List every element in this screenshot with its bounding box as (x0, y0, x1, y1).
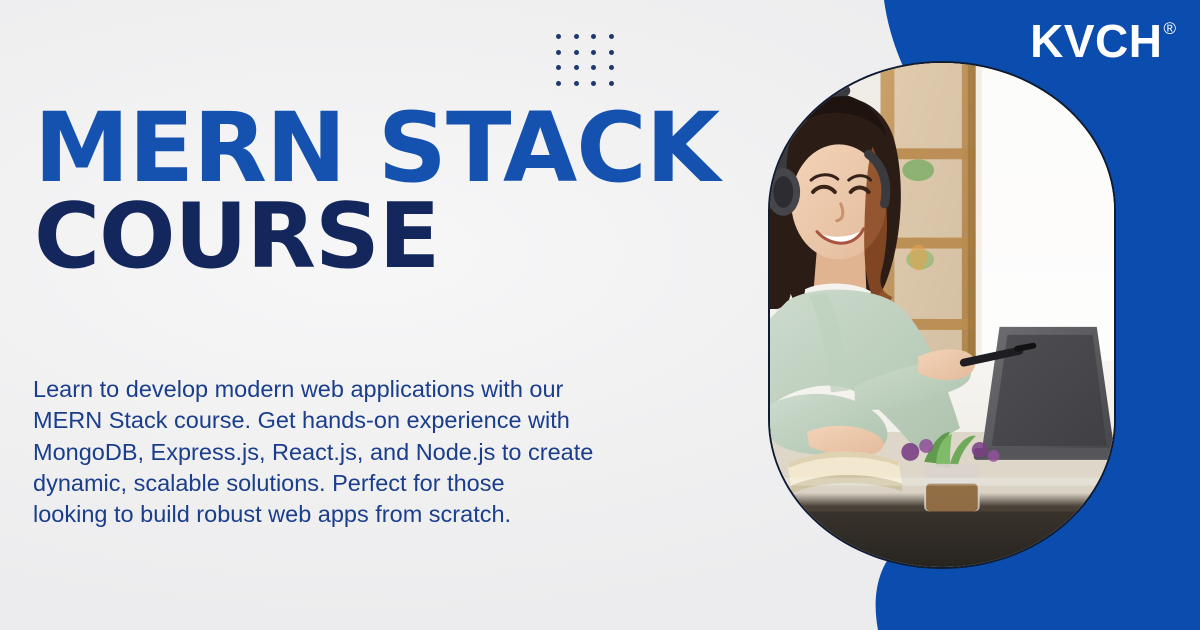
dot-icon (574, 65, 579, 70)
body-copy-line: Learn to develop modern web applications… (33, 374, 723, 405)
dot-icon (591, 50, 596, 55)
dot-icon (609, 65, 614, 70)
headline-primary: MERN STACK (34, 104, 794, 192)
dot-grid-decoration (556, 34, 626, 96)
dot-icon (556, 50, 561, 55)
kvch-logo: KVCH ® (1030, 18, 1176, 64)
dot-cell (609, 50, 627, 66)
dot-icon (574, 34, 579, 39)
dot-cell (591, 34, 609, 50)
student-photo (768, 61, 1116, 569)
headline-block: MERN STACK COURSE (34, 104, 794, 279)
photo-illustration (770, 63, 1114, 567)
dot-cell (609, 65, 627, 81)
dot-cell (556, 50, 574, 66)
body-copy-line: looking to build robust web apps from sc… (33, 499, 723, 530)
dot-cell (574, 50, 592, 66)
promo-banner: MERN STACK COURSE Learn to develop moder… (0, 0, 1200, 630)
dot-icon (591, 34, 596, 39)
dot-cell (556, 34, 574, 50)
dot-cell (609, 34, 627, 50)
registered-trademark-icon: ® (1163, 20, 1176, 37)
dot-icon (609, 34, 614, 39)
dot-icon (556, 65, 561, 70)
body-copy: Learn to develop modern web applications… (33, 374, 723, 530)
body-copy-line: MongoDB, Express.js, React.js, and Node.… (33, 437, 723, 468)
dot-icon (591, 65, 596, 70)
dot-icon (609, 81, 614, 86)
dot-cell (574, 65, 592, 81)
dot-icon (591, 81, 596, 86)
logo-wordmark: KVCH (1030, 18, 1162, 64)
dot-cell (591, 65, 609, 81)
dot-cell (556, 65, 574, 81)
dot-cell (591, 50, 609, 66)
dot-icon (609, 50, 614, 55)
dot-cell (574, 34, 592, 50)
body-copy-line: MERN Stack course. Get hands-on experien… (33, 405, 723, 436)
dot-icon (574, 50, 579, 55)
dot-icon (556, 34, 561, 39)
dot-icon (574, 81, 579, 86)
body-copy-line: dynamic, scalable solutions. Perfect for… (33, 468, 723, 499)
student-photo-art (770, 63, 1114, 567)
headline-secondary: COURSE (34, 196, 794, 279)
dot-icon (556, 81, 561, 86)
